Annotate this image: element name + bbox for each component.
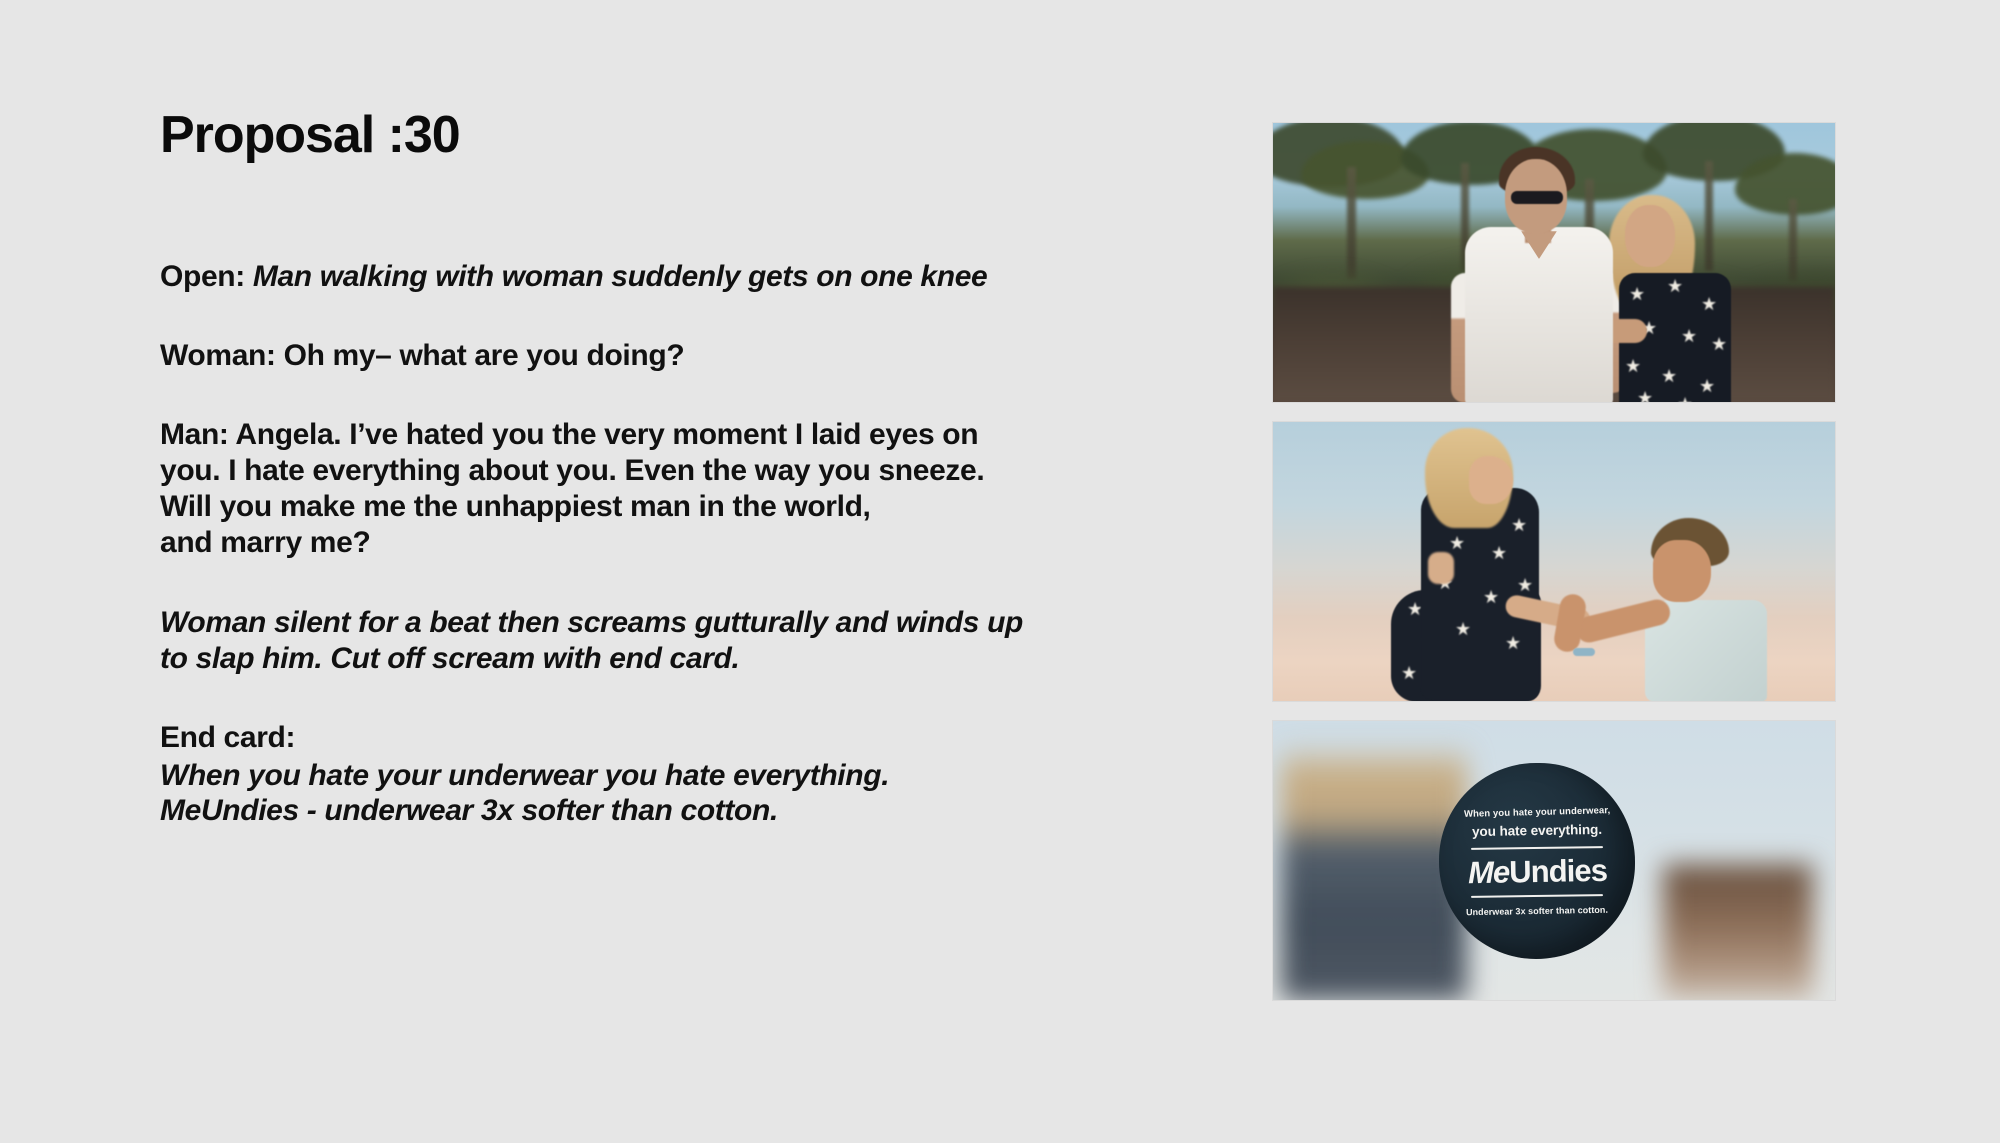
script-text: Angela. I’ve hated you the very moment I… [235,418,978,451]
speaker-label: End card: [160,720,1170,755]
script-line: Will you make me the unhappiest man in t… [160,489,1170,525]
script-line: and marry me? [160,525,1170,561]
script-body: Open: Man walking with woman suddenly ge… [160,259,1170,829]
script-line: to slap him. Cut off scream with end car… [160,641,1170,676]
slide-canvas: Proposal :30 Open: Man walking with woma… [0,0,2000,1143]
logo-me: Me [1467,854,1509,890]
wrist-band [1573,648,1595,656]
script-text: Man walking with woman suddenly gets on … [253,260,988,293]
script-line: MeUndies - underwear 3x softer than cott… [160,793,1170,828]
script-block-end-card: End card: When you hate your underwear y… [160,720,1170,828]
script-text: Oh my– what are you doing? [284,339,685,372]
meundies-logo: MeUndies [1467,854,1607,887]
script-line: Man: Angela. I’ve hated you the very mom… [160,417,1170,453]
page-title: Proposal :30 [160,108,1170,163]
badge-divider-lower [1471,894,1603,898]
script-column: Proposal :30 Open: Man walking with woma… [160,108,1170,828]
stills-column: ★ ★ ★ ★ ★ ★ ★ ★ ★ ★ ★ ★ ★ [1273,123,1835,1000]
speaker-label: Woman: [160,339,284,372]
still-image-proposal: ★ ★ ★ ★ ★ ★ ★ ★ ★ ★ ★ ★ ★ ★ ★ ★ ★ ★ ★ [1273,422,1835,701]
still-image-end-card: When you hate your underwear, you hate e… [1273,721,1835,1000]
script-block-open: Open: Man walking with woman suddenly ge… [160,259,1170,294]
badge-divider-upper [1471,846,1603,850]
still-image-beach-walk: ★ ★ ★ ★ ★ ★ ★ ★ ★ ★ ★ [1273,123,1835,402]
script-block-woman: Woman: Oh my– what are you doing? [160,338,1170,373]
script-line: When you hate your underwear you hate ev… [160,758,1170,793]
script-line: Open: Man walking with woman suddenly ge… [160,259,1170,294]
badge-tagline-mid: you hate everything. [1472,821,1602,838]
script-line: you. I hate everything about you. Even t… [160,453,1170,489]
script-block-direction: Woman silent for a beat then screams gut… [160,605,1170,676]
logo-undies: Undies [1508,852,1606,889]
meundies-badge: When you hate your underwear, you hate e… [1439,763,1635,959]
script-block-man: Man: Angela. I’ve hated you the very mom… [160,417,1170,561]
badge-tagline-bottom: Underwear 3x softer than cotton. [1466,904,1608,916]
script-line: Woman silent for a beat then screams gut… [160,605,1170,640]
sunglasses [1511,191,1563,204]
speaker-label: Open: [160,260,253,293]
badge-tagline-top: When you hate your underwear, [1464,805,1611,820]
speaker-label: Man: [160,418,235,451]
blurred-figure-right [1663,864,1813,1000]
script-line: Woman: Oh my– what are you doing? [160,338,1170,373]
